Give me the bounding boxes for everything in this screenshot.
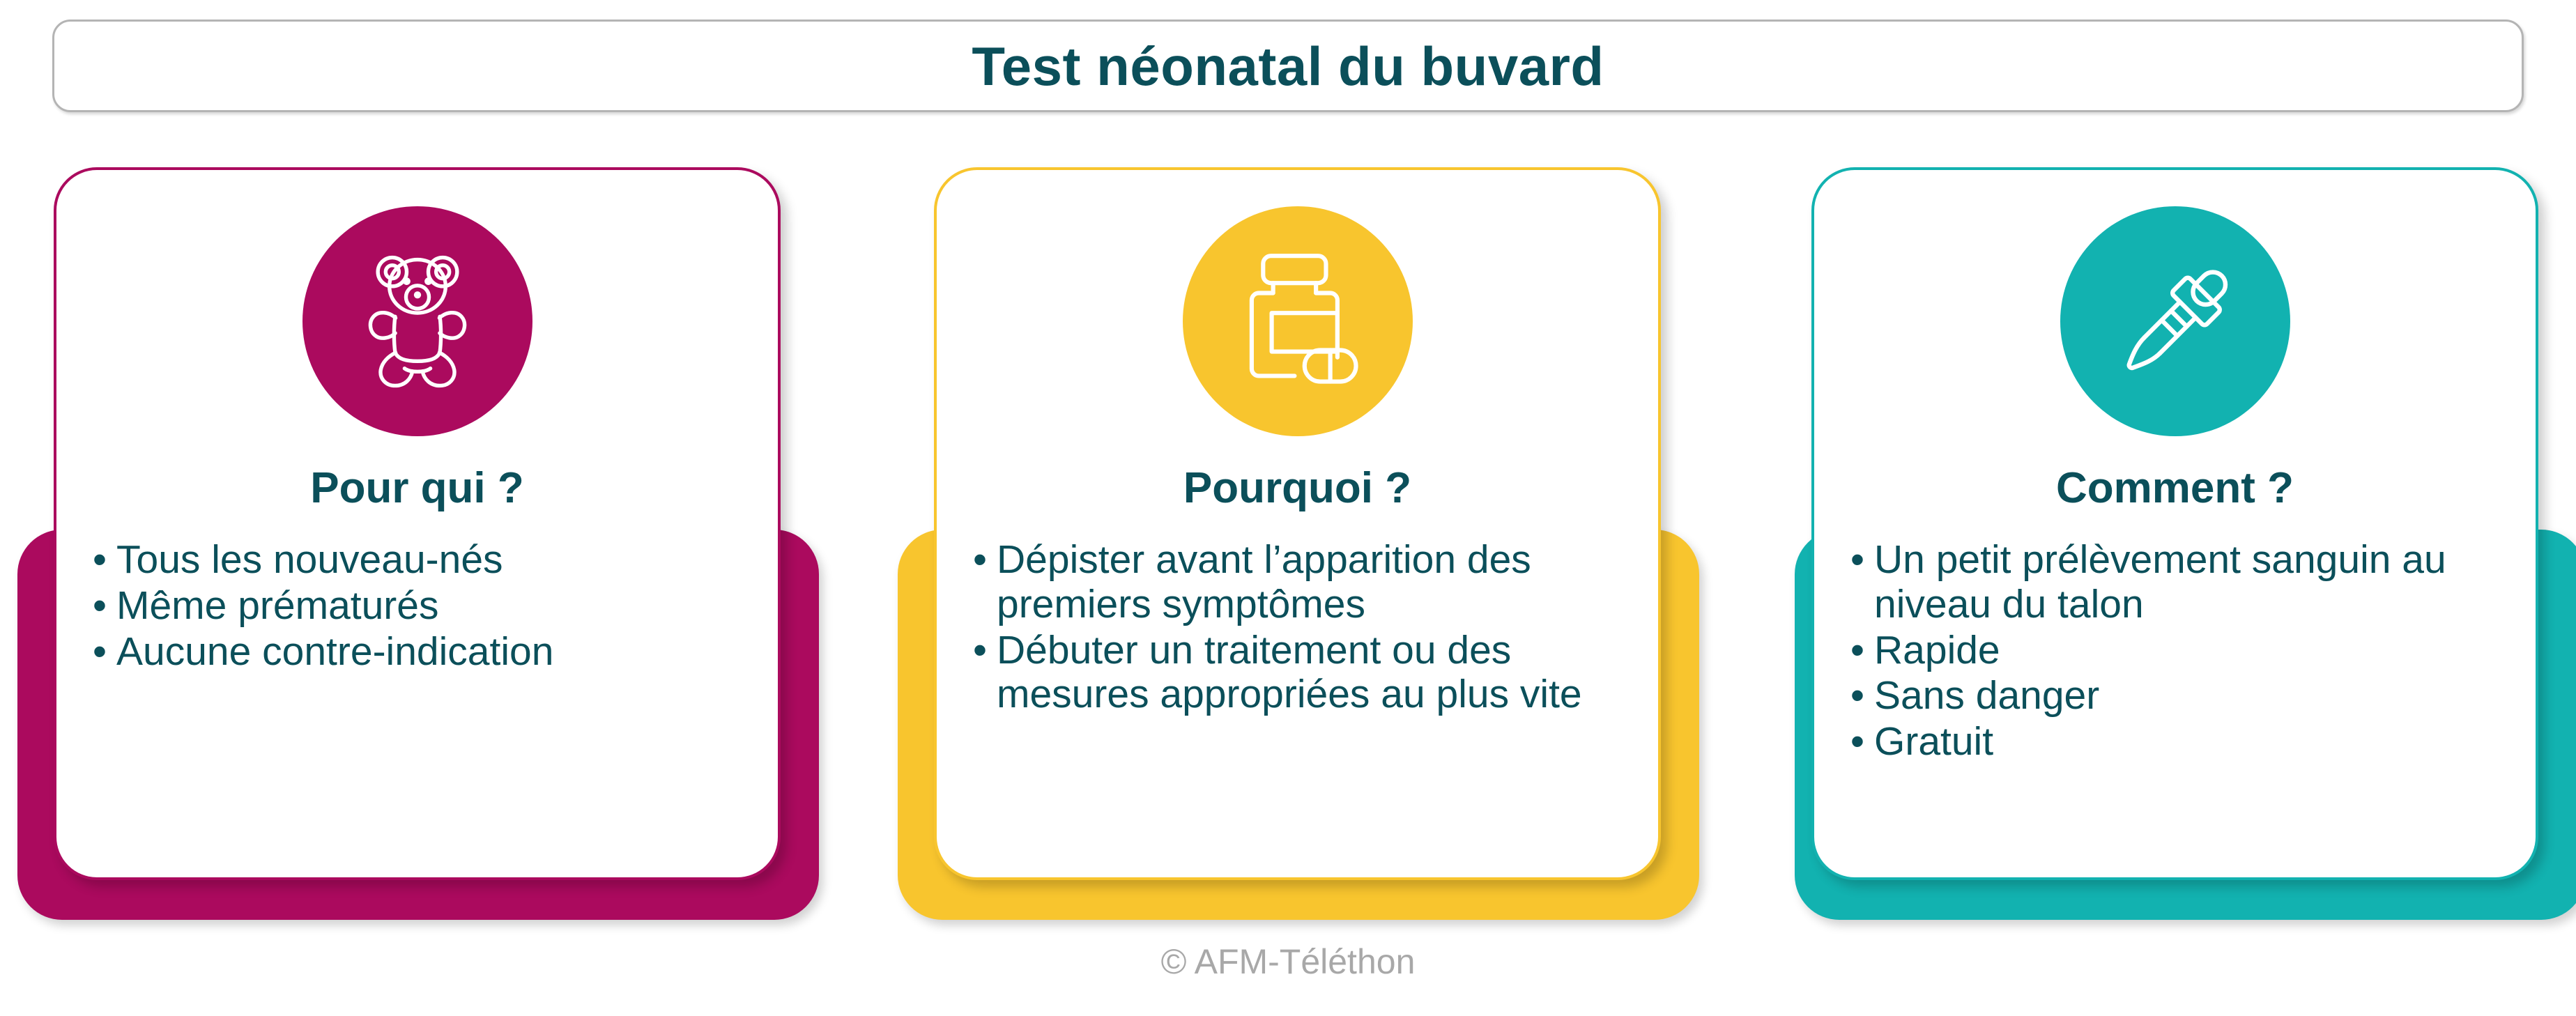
icon-badge [1183,206,1413,436]
list-item: Tous les nouveau-nés [93,538,757,583]
card-title: Pourquoi ? [1183,467,1411,510]
card-pour-qui[interactable]: Pour qui ? Tous les nouveau-nés Même pré… [17,146,819,948]
card-surface: Pourquoi ? Dépister avant l’apparition d… [934,167,1661,880]
card-bullet-list: Tous les nouveau-nés Même prématurés Auc… [56,538,778,675]
list-item: Rapide [1850,629,2515,673]
card-comment[interactable]: Comment ? Un petit prélèvement sanguin a… [1775,146,2576,948]
card-row: Pour qui ? Tous les nouveau-nés Même pré… [0,146,2576,948]
page-title-bar: Test néonatal du buvard [52,20,2524,112]
card-surface: Comment ? Un petit prélèvement sanguin a… [1811,167,2538,880]
card-title: Comment ? [2056,467,2294,510]
list-item: Même prématurés [93,584,757,629]
teddy-bear-icon [344,247,491,397]
card-bullet-list: Dépister avant l’apparition des premiers… [937,538,1658,718]
dropper-icon [2101,247,2249,395]
copyright-credit: © AFM-Téléthon [0,944,2576,979]
icon-badge [2060,206,2290,436]
page-title: Test néonatal du buvard [972,39,1604,93]
icon-badge [302,206,532,436]
card-pourquoi[interactable]: Pourquoi ? Dépister avant l’apparition d… [898,146,1699,948]
list-item: Dépister avant l’apparition des premiers… [973,538,1637,627]
list-item: Débuter un traitement ou des mesures app… [973,629,1637,718]
list-item: Un petit prélèvement sanguin au niveau d… [1850,538,2515,627]
medicine-bottle-icon [1226,247,1369,397]
list-item: Gratuit [1850,720,2515,764]
list-item: Sans danger [1850,674,2515,718]
card-bullet-list: Un petit prélèvement sanguin au niveau d… [1814,538,2536,766]
card-title: Pour qui ? [310,467,524,510]
card-surface: Pour qui ? Tous les nouveau-nés Même pré… [54,167,781,880]
list-item: Aucune contre-indication [93,630,757,675]
